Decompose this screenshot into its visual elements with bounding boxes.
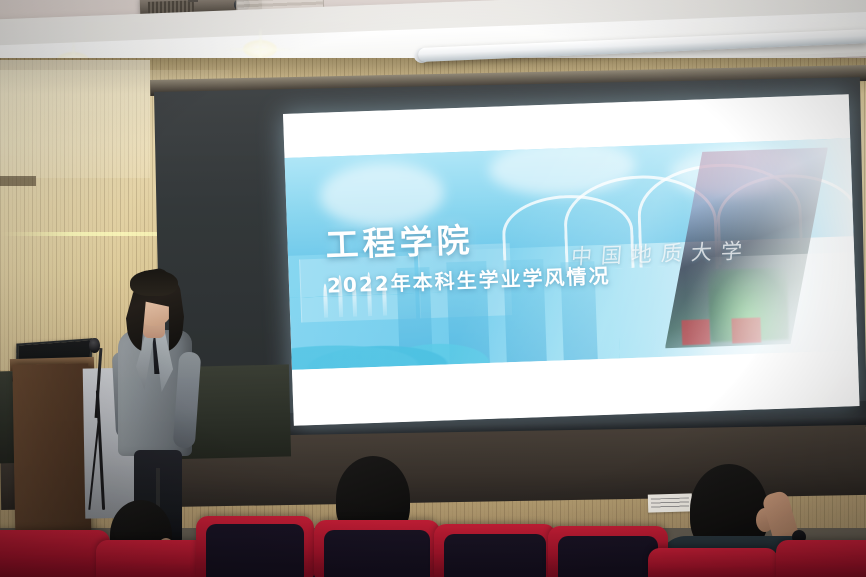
theater-seat[interactable]: [648, 548, 778, 577]
slide-title: 工程学院: [325, 213, 475, 266]
presenter-fringe: [130, 270, 178, 296]
wooden-podium: [12, 363, 91, 554]
theater-seat[interactable]: [96, 540, 208, 577]
recessed-downlight: [243, 40, 277, 58]
theater-seat-cushion: [206, 524, 304, 577]
lecture-hall-scene: 中国地质大学 工程学院 2022年本科生学业学风情况 卓越 2022年3月30日: [0, 0, 866, 577]
wall-notice-card: [648, 493, 692, 512]
projection-screen[interactable]: 中国地质大学 工程学院 2022年本科生学业学风情况 卓越 2022年3月30日: [283, 94, 860, 426]
slide-trees: [289, 286, 620, 369]
theater-seat[interactable]: [0, 530, 110, 577]
theater-seat-cushion: [558, 536, 658, 577]
theater-seat-cushion: [324, 530, 430, 577]
slide-content-area: 中国地质大学 工程学院 2022年本科生学业学风情况 卓越 2022年3月30日: [285, 138, 858, 370]
theater-seat-cushion: [444, 534, 546, 577]
projector-mount: [188, 0, 198, 2]
wall-corner-shadow: [0, 176, 36, 186]
theater-seat[interactable]: [776, 540, 866, 577]
notice-text-lines: [651, 498, 689, 509]
